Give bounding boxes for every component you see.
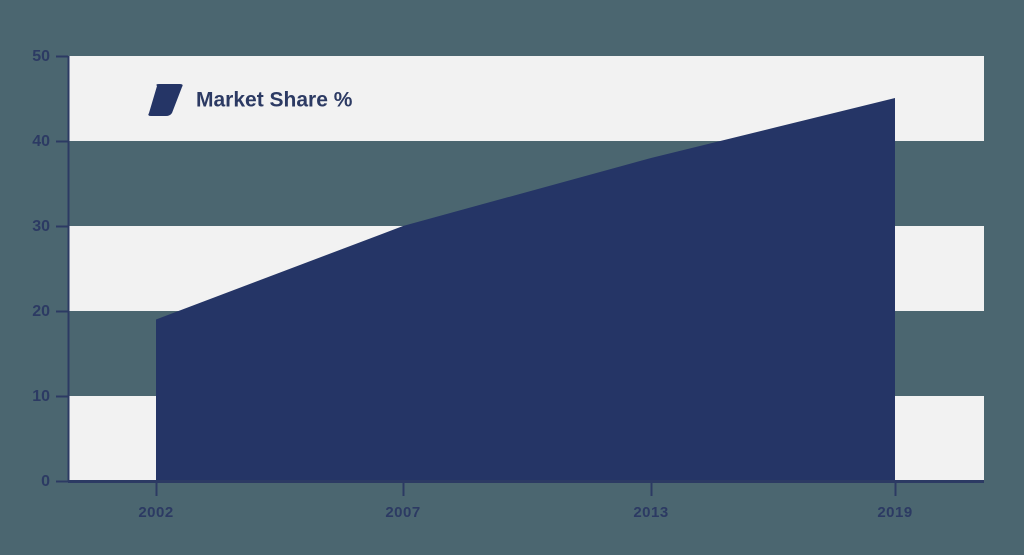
chart-canvas: 50 40 30 20 10 0 2002 2007 2013 2019 Mar… (0, 0, 1024, 555)
legend-label-market-share: Market Share % (196, 89, 353, 112)
y-tick-label-40: 40 (32, 133, 50, 150)
x-tick-label-2002: 2002 (138, 504, 173, 521)
y-tick-label-20: 20 (32, 303, 50, 320)
x-tick-label-2013: 2013 (633, 504, 668, 521)
area-chart: 50 40 30 20 10 0 2002 2007 2013 2019 Mar… (0, 0, 1024, 555)
y-tick-label-10: 10 (32, 388, 50, 405)
x-tick-label-2007: 2007 (385, 504, 420, 521)
y-tick-label-30: 30 (32, 218, 50, 235)
x-tick-label-2019: 2019 (877, 504, 912, 521)
y-tick-label-50: 50 (32, 48, 50, 65)
y-tick-label-0: 0 (41, 473, 50, 490)
